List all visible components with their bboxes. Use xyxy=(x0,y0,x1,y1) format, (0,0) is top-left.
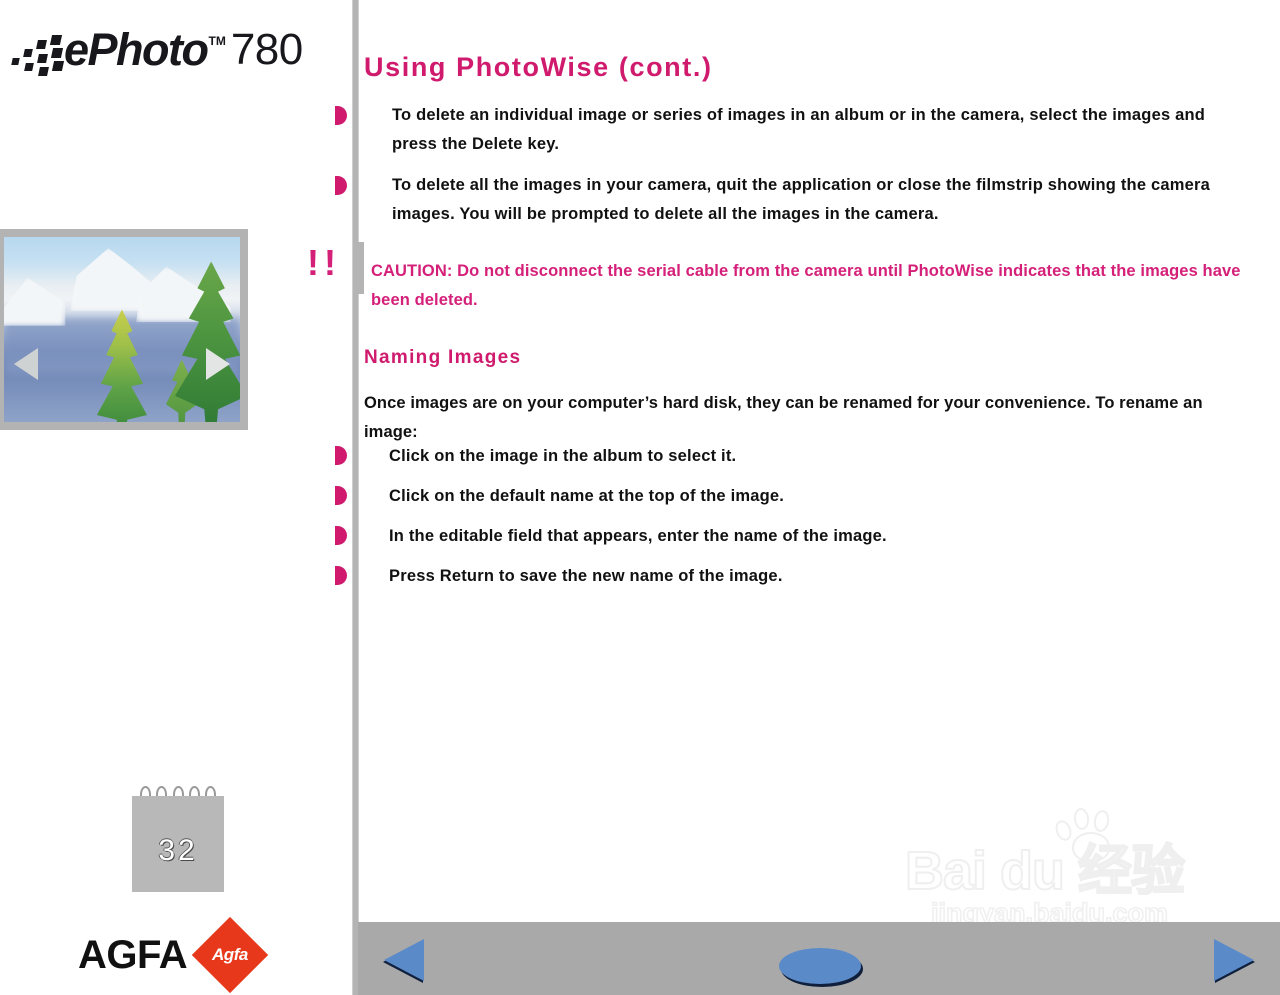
sidebar: ePhotoTM 780 xyxy=(0,0,352,995)
section-intro-paragraph: Once images are on your computer’s hard … xyxy=(364,389,1254,447)
agfa-logo: AGFA Agfa xyxy=(78,928,257,982)
caution-exclamation-icon: !! xyxy=(307,242,341,284)
list-item: Click on the default name at the top of … xyxy=(335,482,1240,522)
page-number: 32 xyxy=(132,834,224,868)
bullet-text: To delete all the images in your camera,… xyxy=(392,171,1240,229)
thumbnail-frame xyxy=(0,229,248,430)
caution-text: CAUTION: Do not disconnect the serial ca… xyxy=(371,257,1253,315)
bullet-marker-icon xyxy=(335,176,347,195)
step-text: Press Return to save the new name of the… xyxy=(389,562,1240,591)
thumbnail-next-arrow-icon[interactable] xyxy=(206,348,230,380)
thumbnail-prev-arrow-icon[interactable] xyxy=(14,348,38,380)
logo-wordmark: ePhotoTM xyxy=(64,19,226,72)
list-item: Press Return to save the new name of the… xyxy=(335,562,1240,602)
page-number-badge: 32 xyxy=(132,796,224,892)
next-page-button[interactable] xyxy=(1214,939,1254,981)
bullet-marker-icon xyxy=(335,106,347,125)
step-text: Click on the default name at the top of … xyxy=(389,482,1240,511)
trademark-symbol: TM xyxy=(209,34,226,48)
bullet-item: To delete an individual image or series … xyxy=(335,101,1240,159)
step-text: In the editable field that appears, ente… xyxy=(389,522,1240,551)
home-button[interactable] xyxy=(779,948,861,984)
bullet-item: To delete all the images in your camera,… xyxy=(335,171,1240,229)
main-content: Using PhotoWise (cont.) To delete an ind… xyxy=(360,0,1280,995)
bullet-text: To delete an individual image or series … xyxy=(392,101,1240,159)
bullet-marker-icon xyxy=(335,446,347,465)
page-title: Using PhotoWise (cont.) xyxy=(364,52,713,83)
step-text: Click on the image in the album to selec… xyxy=(389,442,1240,471)
caution-rule xyxy=(358,242,364,294)
bullet-marker-icon xyxy=(335,566,347,585)
snow-peak-left xyxy=(4,278,65,326)
bullet-marker-icon xyxy=(335,526,347,545)
manual-page: ePhotoTM 780 xyxy=(0,0,1280,995)
agfa-diamond-icon: Agfa xyxy=(192,917,268,993)
section-heading: Naming Images xyxy=(364,347,521,369)
list-item: In the editable field that appears, ente… xyxy=(335,522,1240,562)
bullet-marker-icon xyxy=(335,486,347,505)
pixel-dots-icon xyxy=(12,32,68,72)
footer-navigation-bar xyxy=(358,922,1280,995)
logo-model-number: 780 xyxy=(231,27,303,72)
ephoto-logo: ePhotoTM 780 xyxy=(12,20,342,72)
list-item: Click on the image in the album to selec… xyxy=(335,442,1240,482)
agfa-diamond-text: Agfa xyxy=(212,945,248,965)
logo-text: ePhoto xyxy=(64,24,208,75)
steps-list: Click on the image in the album to selec… xyxy=(335,442,1240,602)
previous-page-button[interactable] xyxy=(384,939,424,981)
caution-block: !! CAUTION: Do not disconnect the serial… xyxy=(307,240,1257,331)
thumbnail-photo xyxy=(4,237,240,422)
agfa-wordmark: AGFA xyxy=(78,935,187,975)
